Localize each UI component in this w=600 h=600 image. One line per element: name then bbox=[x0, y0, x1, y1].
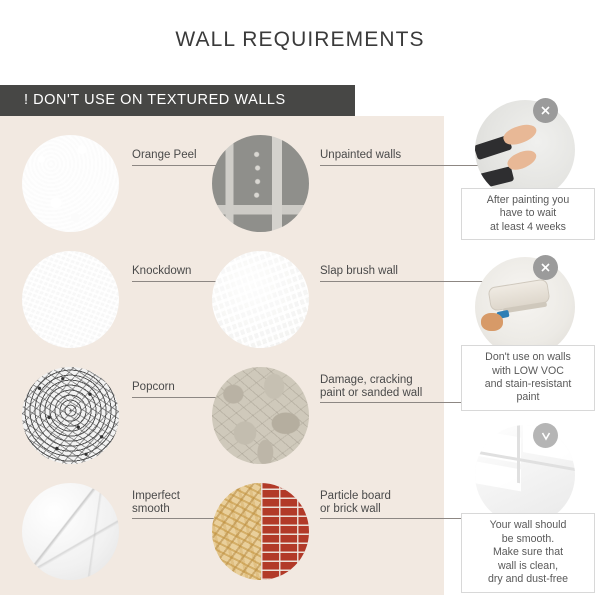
sidebar-card-caption: After painting you have to wait at least… bbox=[461, 188, 595, 240]
sleeve-lower bbox=[478, 166, 515, 189]
x-mark-icon bbox=[533, 255, 558, 280]
check-mark-icon bbox=[533, 423, 558, 448]
hand-holding-roller bbox=[481, 313, 503, 331]
sidebar-card-smooth-clean-wall: Your wall should be smooth. Make sure th… bbox=[455, 425, 600, 590]
texture-item-unpainted-walls: Unpainted walls bbox=[212, 135, 442, 232]
requirements-sidebar: After painting you have to wait at least… bbox=[455, 0, 600, 600]
texture-item-damage-cracking-paint: Damage, cracking paint or sanded wall bbox=[212, 367, 442, 464]
texture-item-particle-board-brick: Particle board or brick wall bbox=[212, 483, 442, 580]
particle-board-brick-photo-icon bbox=[212, 483, 309, 580]
orange-peel-texture-icon bbox=[22, 135, 119, 232]
paint-roller-photo bbox=[475, 257, 575, 357]
unpainted-wall-photo-icon bbox=[212, 135, 309, 232]
slap-brush-texture-icon bbox=[212, 251, 309, 348]
hand-touching-wall-photo bbox=[475, 100, 575, 200]
window-mullion-vertical bbox=[517, 425, 520, 483]
imperfect-smooth-texture-icon bbox=[22, 483, 119, 580]
particle-board-half bbox=[212, 483, 261, 580]
window-pane-bottom-left bbox=[475, 461, 521, 492]
x-mark-icon bbox=[533, 98, 558, 123]
knockdown-texture-icon bbox=[22, 251, 119, 348]
sidebar-card-caption: Your wall should be smooth. Make sure th… bbox=[461, 513, 595, 593]
damaged-wall-photo-icon bbox=[212, 367, 309, 464]
brick-wall-half bbox=[261, 483, 310, 580]
texture-item-slap-brush-wall: Slap brush wall bbox=[212, 251, 442, 348]
sidebar-card-wait-4-weeks: After painting you have to wait at least… bbox=[455, 100, 600, 245]
popcorn-texture-icon bbox=[22, 367, 119, 464]
warning-banner: ! DON'T USE ON TEXTURED WALLS bbox=[0, 85, 355, 116]
sidebar-card-low-voc: Don't use on walls with LOW VOC and stai… bbox=[455, 257, 600, 417]
smooth-wall-window-photo bbox=[475, 425, 575, 525]
sidebar-card-caption: Don't use on walls with LOW VOC and stai… bbox=[461, 345, 595, 411]
texture-grid: Orange Peel Unpainted walls Knockdown Sl… bbox=[0, 116, 444, 595]
warning-banner-label: ! DON'T USE ON TEXTURED WALLS bbox=[24, 85, 286, 116]
